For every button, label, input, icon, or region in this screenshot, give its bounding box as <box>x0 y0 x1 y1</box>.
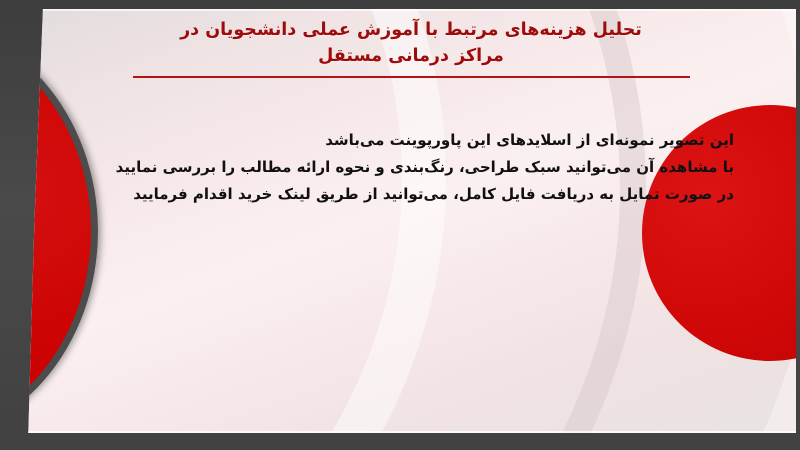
slide-body-text: این تصویر نمونه‌ای از اسلایدهای این پاور… <box>146 127 734 208</box>
body-line-2: با مشاهده آن می‌توانید سبک طراحی، رنگ‌بن… <box>146 154 734 181</box>
body-line-1: این تصویر نمونه‌ای از اسلایدهای این پاور… <box>146 127 734 154</box>
title-line-1: تحلیل هزینه‌های مرتبط با آموزش عملی دانش… <box>146 17 676 43</box>
page-top-highlight <box>26 9 796 11</box>
slide-title: تحلیل هزینه‌های مرتبط با آموزش عملی دانش… <box>26 17 796 69</box>
slide-page-surface: تحلیل هزینه‌های مرتبط با آموزش عملی دانش… <box>26 9 796 433</box>
body-line-3: در صورت تمایل به دریافت فایل کامل، می‌تو… <box>146 181 734 208</box>
presentation-slide: تحلیل هزینه‌های مرتبط با آموزش عملی دانش… <box>0 0 800 450</box>
title-underline-rule <box>133 76 690 78</box>
page-bottom-highlight <box>26 431 796 433</box>
title-line-2: مراکز درمانی مستقل <box>146 43 676 69</box>
